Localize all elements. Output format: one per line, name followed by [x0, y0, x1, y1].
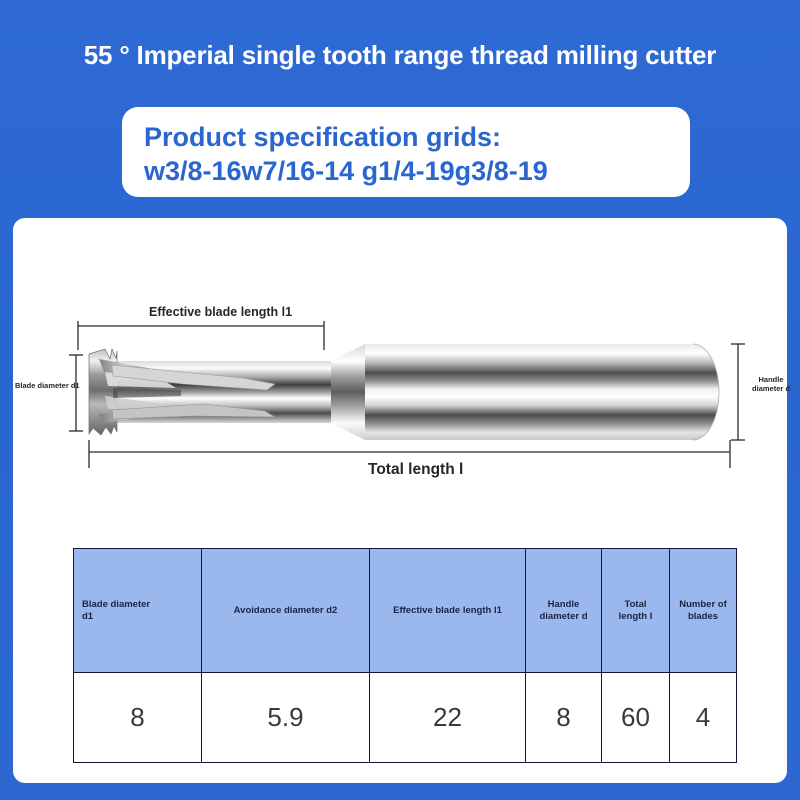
milling-cutter-illustration	[89, 344, 719, 440]
product-spec-page: 55 ° Imperial single tooth range thread …	[0, 0, 800, 800]
header-line1: Effective blade length l1	[393, 605, 502, 616]
label-handle-diameter: Handle diameter d	[748, 375, 794, 393]
spec-grids: w3/8-16w7/16-14 g1/4-19g3/8-19	[144, 154, 668, 188]
cell-total-length: 60	[602, 673, 670, 763]
cell-blade-diameter: 8	[74, 673, 202, 763]
header-line2: length l	[619, 611, 653, 622]
label-handle-diameter-line1: Handle	[758, 375, 783, 384]
blade-diameter-dimension	[69, 355, 83, 431]
header-line2: diameter d	[539, 611, 587, 622]
page-title: 55 ° Imperial single tooth range thread …	[0, 40, 800, 71]
spec-callout-box: Product specification grids: w3/8-16w7/1…	[122, 107, 690, 197]
table-header-effective-blade-length: Effective blade length l1	[370, 549, 526, 673]
table-row: 8 5.9 22 8 60 4	[74, 673, 737, 763]
cell-effective-blade-length: 22	[370, 673, 526, 763]
content-card: Effective blade length l1 Blade diameter…	[13, 218, 787, 783]
table-header-number-of-blades: Number of blades	[670, 549, 737, 673]
header-line1: Avoidance diameter d2	[234, 605, 338, 616]
label-total-length: Total length l	[368, 461, 463, 479]
table-header-handle-diameter: Handle diameter d	[526, 549, 602, 673]
table-header-total-length: Total length l	[602, 549, 670, 673]
cell-number-of-blades: 4	[670, 673, 737, 763]
spec-table-wrapper: Blade diameter d1 Avoidance diameter d2	[73, 548, 736, 760]
handle-diameter-dimension	[731, 344, 745, 440]
cell-handle-diameter: 8	[526, 673, 602, 763]
effective-blade-length-dimension	[78, 321, 324, 350]
table-header-row: Blade diameter d1 Avoidance diameter d2	[74, 549, 737, 673]
cell-avoidance-diameter: 5.9	[202, 673, 370, 763]
header-line1: Handle	[548, 599, 580, 610]
label-handle-diameter-line2: diameter d	[752, 384, 790, 393]
header-line2: d1	[82, 611, 93, 622]
spec-table: Blade diameter d1 Avoidance diameter d2	[73, 548, 737, 763]
header-line1: Blade diameter	[82, 599, 150, 610]
label-blade-diameter: Blade diameter d1	[15, 381, 80, 390]
header-line1: Number of	[679, 599, 727, 610]
header-line2: blades	[688, 611, 718, 622]
label-effective-blade-length: Effective blade length l1	[149, 305, 292, 319]
cutter-technical-drawing: Effective blade length l1 Blade diameter…	[13, 218, 787, 518]
header-line1: Total	[625, 599, 647, 610]
spec-label: Product specification grids:	[144, 120, 668, 154]
table-header-avoidance-diameter: Avoidance diameter d2	[202, 549, 370, 673]
table-header-blade-diameter: Blade diameter d1	[74, 549, 202, 673]
